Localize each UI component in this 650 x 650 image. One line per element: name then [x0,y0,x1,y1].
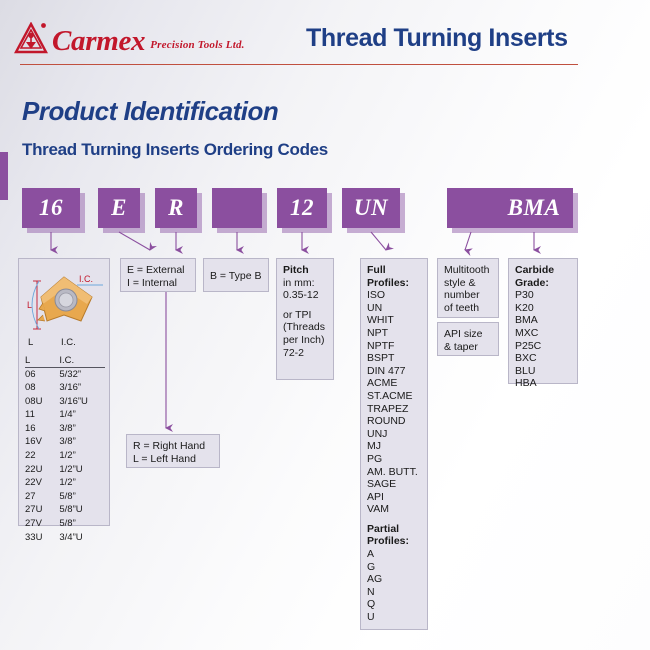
carbide-line: Carbide [515,264,571,277]
table-row: 163/8” [25,422,105,436]
table-cell: 16V [25,436,50,450]
code-box-1[interactable]: 16 [22,188,80,228]
pitch-line: per Inch) [283,334,327,347]
type-line: B = Type B [210,270,262,283]
hand-direction-line: R = Right Hand [133,440,213,453]
spacer [283,302,327,309]
size-col-header: I.C. [50,355,105,368]
table-row: 22U1/2”U [25,463,105,477]
carbide-line: K20 [515,302,571,315]
profile-line: TRAPEZ [367,403,421,416]
table-row: 22V1/2” [25,477,105,491]
carbide-grade-box: CarbideGrade:P30K20BMAMXCP25CBXCBLUHBA [508,258,578,384]
external-internal-box: E = ExternalI = Internal [120,258,196,292]
svg-text:L: L [27,300,32,310]
profile-line: N [367,586,421,599]
document-page: Carmex Precision Tools Ltd. Thread Turni… [0,0,650,650]
code-box-label: 12 [277,188,327,228]
table-cell: 3/16”U [50,395,105,409]
table-cell: 11 [25,409,50,423]
code-box-8[interactable]: BMA [495,188,573,228]
profile-line: Profiles: [367,277,421,290]
profile-line: NPTF [367,340,421,353]
carbide-line: BMA [515,314,571,327]
profile-line: Partial [367,523,421,536]
carbide-line: P30 [515,289,571,302]
multitooth-box: Multitoothstyle &numberof teeth [437,258,499,318]
carbide-line: BLU [515,365,571,378]
subsection-title: Thread Turning Inserts Ordering Codes [22,140,328,160]
table-row: 275/8” [25,490,105,504]
table-cell: 22 [25,450,50,464]
right-left-hand-box: R = Right HandL = Left Hand [126,434,220,468]
table-cell: 5/8”U [50,504,105,518]
carbide-line: BXC [515,352,571,365]
profile-line: U [367,611,421,624]
profile-line: AG [367,573,421,586]
carbide-line: HBA [515,377,571,390]
table-row: 33U3/4”U [25,531,105,545]
profile-line: ISO [367,289,421,302]
code-box-6[interactable]: UN [342,188,400,228]
purple-accent-bar [0,152,8,200]
type-box: B = Type B [203,258,269,292]
table-row: 111/4” [25,409,105,423]
profile-line: ACME [367,377,421,390]
pitch-line: (Threads [283,321,327,334]
multitooth-line: style & [444,277,492,290]
page-header: Carmex Precision Tools Ltd. Thread Turni… [0,0,650,68]
code-box-4[interactable] [212,188,262,228]
profile-line: API [367,491,421,504]
table-row: 065/32” [25,368,105,382]
profile-line: Profiles: [367,535,421,548]
profile-line: MJ [367,440,421,453]
table-cell: 5/8” [50,490,105,504]
code-box-label: UN [342,188,400,228]
table-row: 27U5/8”U [25,504,105,518]
code-box-label: R [155,188,197,228]
code-box-5[interactable]: 12 [277,188,327,228]
hand-line: I = Internal [127,277,189,290]
svg-text:I.C.: I.C. [61,337,76,348]
carbide-line: Grade: [515,277,571,290]
profile-line: G [367,561,421,574]
table-cell: 3/4”U [50,531,105,545]
table-cell: 1/4” [50,409,105,423]
code-box-label [212,188,262,228]
table-row: 083/16” [25,382,105,396]
table-cell: 1/2” [50,477,105,491]
insert-shape-diagram: L I.C. L I.C. [19,259,109,351]
profile-line: Q [367,598,421,611]
table-cell: 27U [25,504,50,518]
table-cell: 08U [25,395,50,409]
profile-line: UN [367,302,421,315]
profile-line: NPT [367,327,421,340]
table-cell: 27V [25,518,50,532]
page-title: Thread Turning Inserts [306,24,568,53]
table-cell: 22U [25,463,50,477]
table-row: 27V5/8” [25,518,105,532]
pitch-line: 0.35-12 [283,289,327,302]
svg-text:L: L [28,337,33,348]
code-box-3[interactable]: R [155,188,197,228]
hand-direction-line: L = Left Hand [133,453,213,466]
table-cell: 16 [25,422,50,436]
table-cell: 1/2”U [50,463,105,477]
multitooth-line: of teeth [444,302,492,315]
header-divider [20,64,578,65]
profiles-box: FullProfiles:ISOUNWHITNPTNPTFBSPTDIN 477… [360,258,428,630]
table-cell: 27 [25,490,50,504]
brand-tagline: Precision Tools Ltd. [150,39,244,54]
multitooth-line: number [444,289,492,302]
brand-name: Carmex [52,28,145,54]
table-row: 221/2” [25,450,105,464]
table-cell: 08 [25,382,50,396]
api-size-box: API size& taper [437,322,499,356]
code-box-label: 16 [22,188,80,228]
carbide-line: P25C [515,340,571,353]
api-line: API size [444,328,492,341]
profile-line: A [367,548,421,561]
table-row: 08U3/16”U [25,395,105,409]
svg-text:I.C.: I.C. [79,274,93,284]
pitch-line: in mm: [283,277,327,290]
carbide-line: MXC [515,327,571,340]
profile-line: AM. BUTT. [367,466,421,479]
code-box-label [447,188,495,228]
section-title: Product Identification [22,96,278,127]
table-cell: 5/8” [50,518,105,532]
spacer [367,516,421,523]
profile-line: SAGE [367,478,421,491]
carmex-triangle-logo-icon [14,22,48,54]
profile-line: VAM [367,503,421,516]
table-cell: 3/8” [50,436,105,450]
table-cell: 06 [25,368,50,382]
pitch-box: Pitchin mm:0.35-12or TPI(Threadsper Inch… [276,258,334,380]
code-box-2[interactable]: E [98,188,140,228]
hand-line: E = External [127,264,189,277]
table-cell: 5/32” [50,368,105,382]
table-cell: 3/16” [50,382,105,396]
brand-logo: Carmex Precision Tools Ltd. [14,22,245,54]
code-box-label: E [98,188,140,228]
profile-line: ROUND [367,415,421,428]
table-cell: 1/2” [50,450,105,464]
size-col-header: L [25,355,50,368]
table-cell: 3/8” [50,422,105,436]
table-cell: 33U [25,531,50,545]
profile-line: BSPT [367,352,421,365]
code-box-7[interactable] [447,188,495,228]
size-table-header: LI.C. [25,355,105,368]
code-box-label: BMA [495,188,573,228]
profile-line: WHIT [367,314,421,327]
pitch-line: 72-2 [283,347,327,360]
profile-line: UNJ [367,428,421,441]
insert-dimension-box: L I.C. L I.C. LI.C. 065/32”083/16”08U3/1… [18,258,110,526]
pitch-line: Pitch [283,264,327,277]
size-table-body: 065/32”083/16”08U3/16”U111/4”163/8”16V3/… [25,368,105,545]
size-table: LI.C. 065/32”083/16”08U3/16”U111/4”163/8… [25,355,105,545]
table-row: 16V3/8” [25,436,105,450]
api-line: & taper [444,341,492,354]
profile-line: ST.ACME [367,390,421,403]
profile-line: DIN 477 [367,365,421,378]
profile-line: Full [367,264,421,277]
table-cell: 22V [25,477,50,491]
profile-line: PG [367,453,421,466]
multitooth-line: Multitooth [444,264,492,277]
pitch-line: or TPI [283,309,327,322]
